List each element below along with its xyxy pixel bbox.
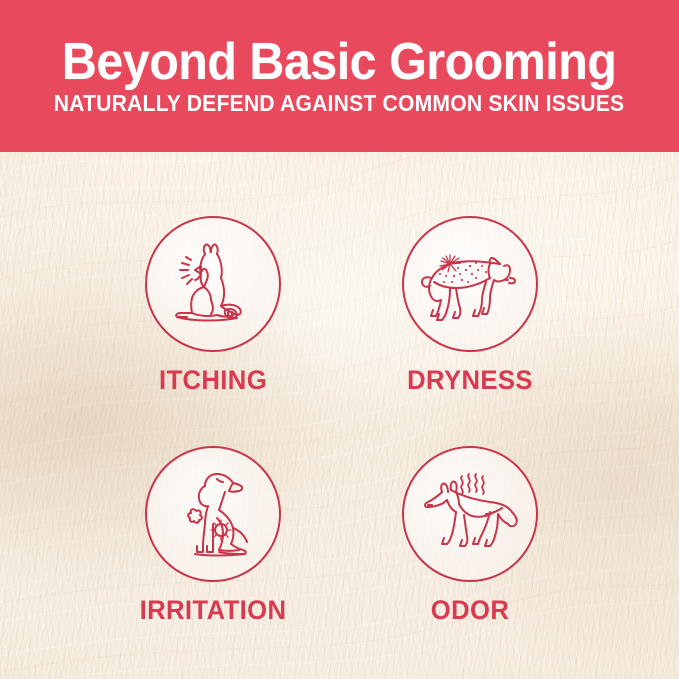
dog-scratching-icon [161,232,265,336]
page-title: Beyond Basic Grooming [62,36,617,88]
benefit-label: ITCHING [84,367,342,394]
benefit-icon-circle [402,216,538,352]
benefit-item-odor: ODOR [334,446,606,624]
poster-root: Beyond Basic Grooming NATURALLY DEFEND A… [0,0,679,679]
page-subtitle: NATURALLY DEFEND AGAINST COMMON SKIN ISS… [54,92,625,116]
dog-irritated-skin-icon [161,462,265,566]
benefit-item-dryness: DRYNESS [334,216,606,394]
benefit-label: ODOR [341,597,599,624]
benefit-label: IRRITATION [84,597,342,624]
benefit-item-irritation: IRRITATION [77,446,349,624]
benefit-icon-circle [145,446,281,582]
benefit-label: DRYNESS [341,367,599,394]
benefit-item-itching: ITCHING [77,216,349,394]
benefit-icon-circle [145,216,281,352]
benefit-grid: ITCHING [0,152,679,679]
header-banner: Beyond Basic Grooming NATURALLY DEFEND A… [0,0,679,152]
dog-dandruff-icon [416,230,524,338]
dog-odor-icon [416,460,524,568]
benefit-icon-circle [402,446,538,582]
